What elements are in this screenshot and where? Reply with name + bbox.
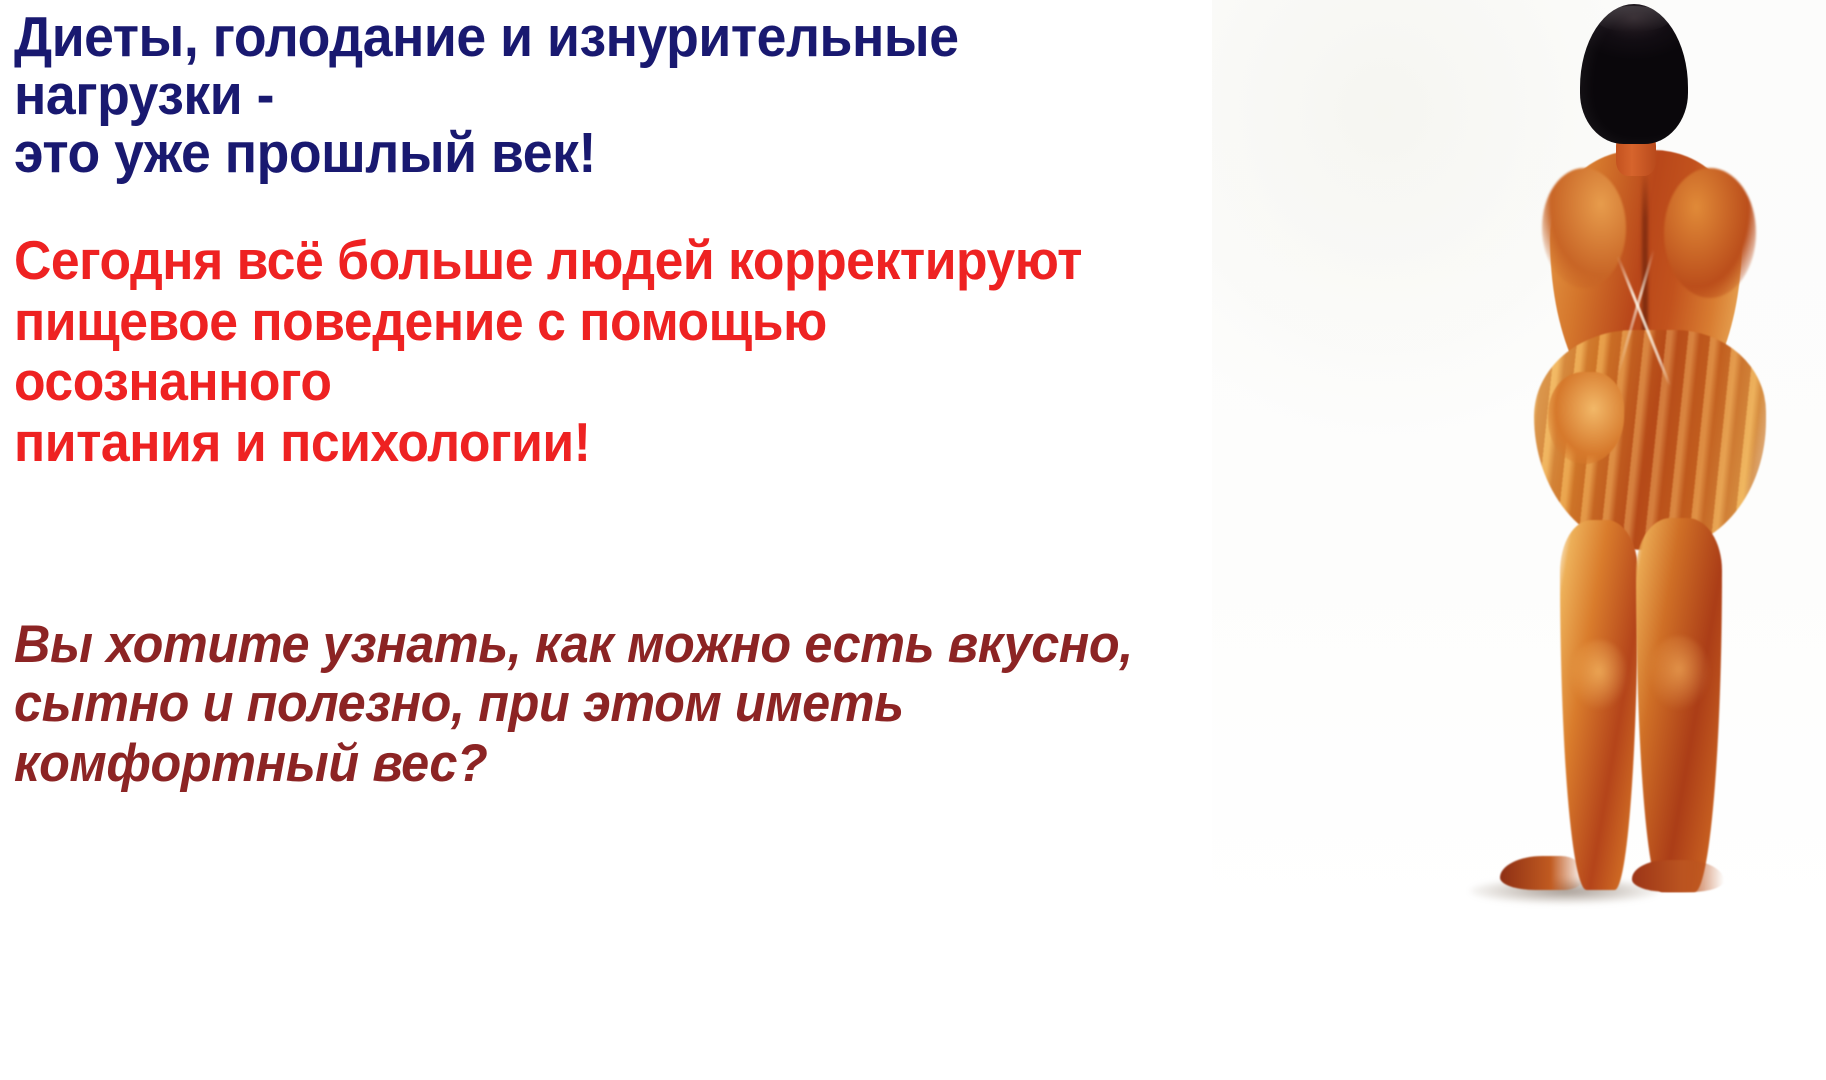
hair-bob [1580,4,1688,144]
right-knee [1648,636,1710,710]
question-text: Вы хотите узнать, как можно есть вкусно,… [14,615,1133,793]
subline-text: Сегодня всё больше людей корректируют пи… [14,230,1127,472]
left-foot [1500,856,1584,890]
left-shoulder [1542,168,1626,288]
text-column: Диеты, голодание и изнурительные нагрузк… [8,0,1198,1080]
left-knee [1570,640,1628,710]
right-shoulder [1664,168,1756,298]
right-foot [1632,860,1724,892]
promo-slide: Диеты, голодание и изнурительные нагрузк… [0,0,1826,1080]
woman-from-behind-photo [1212,0,1826,928]
headline-text: Диеты, голодание и изнурительные нагрузк… [14,8,1127,182]
figure-illustration [1212,0,1826,928]
